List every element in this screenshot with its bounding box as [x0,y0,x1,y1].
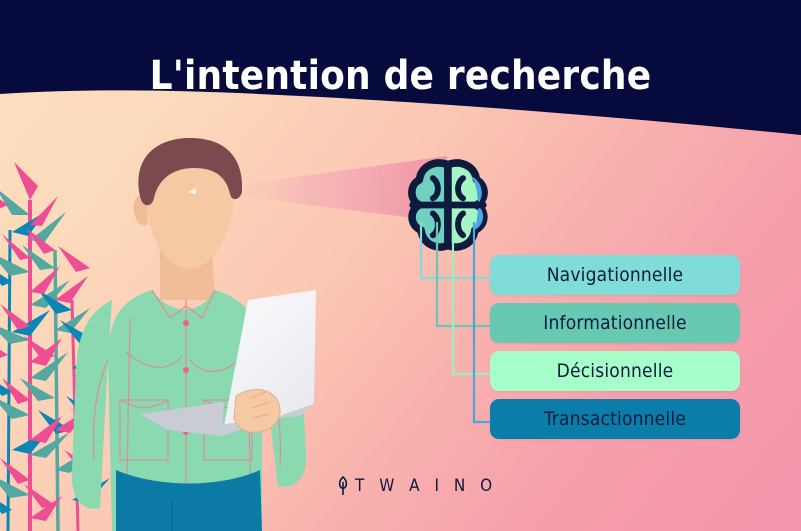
intent-label: Décisionnelle [557,360,674,382]
infographic-canvas: L'intention de recherche [0,0,801,531]
connector-line [437,222,490,326]
leaf-icon [336,476,350,496]
connector-line [421,222,490,278]
intent-box[interactable]: Navigationnelle [490,255,740,295]
twaino-logo[interactable]: T W A I N O [336,476,497,496]
intent-box[interactable]: Décisionnelle [490,351,740,391]
connector-line [453,222,490,374]
intent-label: Informationnelle [543,312,686,334]
intent-box[interactable]: Transactionnelle [490,399,740,439]
logo-text: T W A I N O [355,476,497,496]
connector-line [474,222,490,422]
intent-label: Transactionnelle [544,408,686,430]
intent-label: Navigationnelle [547,264,684,286]
intent-box-list: Navigationnelle Informationnelle Décisio… [490,255,740,447]
intent-box[interactable]: Informationnelle [490,303,740,343]
